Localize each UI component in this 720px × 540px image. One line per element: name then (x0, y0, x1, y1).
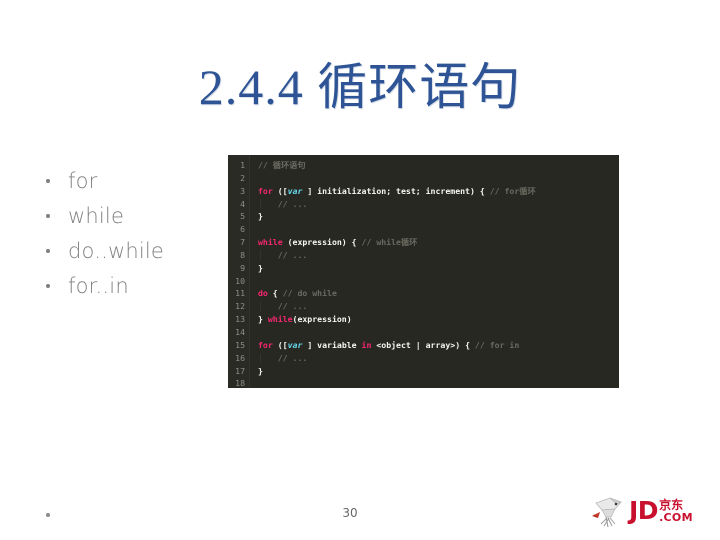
list-item: while (40, 198, 230, 233)
code-line-number: 17 (228, 365, 249, 378)
code-line-number: 10 (228, 275, 249, 288)
code-punct: { (268, 288, 283, 298)
jd-wordmark: JD 京东 .COM (629, 498, 693, 524)
code-line-number: 7 (228, 236, 249, 249)
bullet-dot-icon (46, 249, 50, 253)
code-text: ] variable (302, 340, 361, 350)
code-keyword: for (258, 340, 273, 350)
code-line: } while(expression) (258, 313, 619, 326)
code-text: <object | array>) { (371, 340, 475, 350)
code-line-number: 16 (228, 352, 249, 365)
code-punct: ([ (273, 186, 288, 196)
code-line-number: 4 (228, 198, 249, 211)
code-line-number: 14 (228, 326, 249, 339)
bullet-dot-icon (46, 179, 50, 183)
code-line: // 循环语句 (258, 159, 619, 172)
code-keyword: while (258, 237, 283, 247)
code-block: 1 2 3 4 5 6 7 8 9 10 11 12 13 14 15 16 1… (228, 155, 619, 388)
code-content: // 循环语句 for ([var ] initialization; test… (250, 155, 619, 388)
code-keyword: in (362, 340, 372, 350)
code-line: } (258, 262, 619, 275)
jd-logo: JD 京东 .COM (590, 493, 712, 529)
jd-logo-right: 京东 .COM (659, 498, 693, 524)
code-line-number: 8 (228, 249, 249, 262)
code-line: do { // do while (258, 287, 619, 300)
slide-canvas: 2.4.4 循环语句 for while do..while for..in 1… (0, 0, 720, 540)
list-item-label: for..in (68, 274, 129, 298)
code-punct: } (258, 314, 268, 324)
code-text: ] initialization; test; increment) { (302, 186, 489, 196)
code-line-number: 18 (228, 377, 249, 388)
indent-guide-icon: │ (258, 353, 263, 363)
list-item: for..in (40, 268, 230, 303)
code-line-number: 1 (228, 159, 249, 172)
code-punct: } (258, 366, 263, 376)
code-comment: // 循环语句 (258, 160, 306, 170)
code-keyword-var: var (288, 186, 303, 196)
code-line: │ // ... (258, 300, 619, 313)
code-comment: // do while (283, 288, 337, 298)
code-punct: } (258, 211, 263, 221)
bullet-dot-icon (46, 284, 50, 288)
jd-tld: .COM (659, 512, 693, 524)
code-comment: // ... (278, 353, 308, 363)
list-item: for (40, 163, 230, 198)
code-line (258, 223, 619, 236)
code-comment: // for in (475, 340, 519, 350)
indent-guide-icon: │ (258, 199, 263, 209)
footer-bullet-dot-icon (46, 513, 50, 517)
code-keyword-var: var (288, 340, 303, 350)
code-line: for ([var ] variable in <object | array>… (258, 339, 619, 352)
code-line-number: 6 (228, 223, 249, 236)
list-item: do..while (40, 233, 230, 268)
code-line-number: 9 (228, 262, 249, 275)
code-line (258, 326, 619, 339)
list-item-label: do..while (68, 239, 164, 263)
code-line-number: 11 (228, 287, 249, 300)
code-keyword: do (258, 288, 268, 298)
code-punct: } (258, 263, 263, 273)
code-line-number: 15 (228, 339, 249, 352)
code-punct: ([ (273, 340, 288, 350)
code-keyword: while (268, 314, 293, 324)
code-line-number: 2 (228, 172, 249, 185)
code-line: for ([var ] initialization; test; increm… (258, 185, 619, 198)
code-keyword: for (258, 186, 273, 196)
code-line: │ // ... (258, 198, 619, 211)
code-line-number: 13 (228, 313, 249, 326)
code-comment: // while循环 (362, 237, 418, 247)
jd-dog-mascot-icon (590, 494, 628, 528)
code-line: │ // ... (258, 352, 619, 365)
indent-guide-icon: │ (258, 250, 263, 260)
list-item-label: for (68, 169, 97, 193)
page-title: 2.4.4 循环语句 (0, 56, 720, 118)
code-line (258, 377, 619, 388)
code-comment: // for循环 (490, 186, 536, 196)
code-line-number: 5 (228, 210, 249, 223)
code-text: (expression) (293, 314, 352, 324)
code-comment: // ... (278, 250, 308, 260)
bullet-list: for while do..while for..in (40, 163, 230, 303)
code-line-number: 12 (228, 300, 249, 313)
code-comment: // ... (278, 301, 308, 311)
list-item-label: while (68, 204, 124, 228)
jd-brand-letters: JD (629, 498, 658, 523)
code-line: } (258, 210, 619, 223)
code-line: │ // ... (258, 249, 619, 262)
code-text: (expression) { (283, 237, 362, 247)
code-line: } (258, 365, 619, 378)
code-line-number: 3 (228, 185, 249, 198)
code-line (258, 172, 619, 185)
indent-guide-icon: │ (258, 301, 263, 311)
page-number: 30 (330, 506, 370, 520)
code-line-number-gutter: 1 2 3 4 5 6 7 8 9 10 11 12 13 14 15 16 1… (228, 155, 250, 388)
code-comment: // ... (278, 199, 308, 209)
code-line: while (expression) { // while循环 (258, 236, 619, 249)
code-line (258, 275, 619, 288)
bullet-dot-icon (46, 214, 50, 218)
